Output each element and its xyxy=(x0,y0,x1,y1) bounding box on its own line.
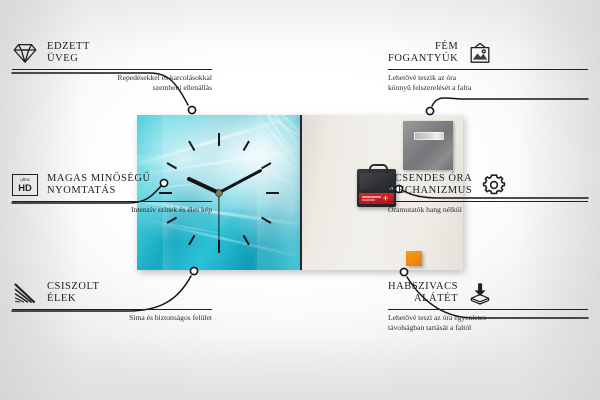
feature-header: HABSZIVACS ALÁTÉT xyxy=(388,280,588,306)
feature-description: Lehetővé teszik az óra könnyű felszerelé… xyxy=(388,73,588,92)
feature-foam-pad: HABSZIVACS ALÁTÉT Lehetővé teszi az óra … xyxy=(388,280,588,332)
feature-polished-edges: CSISZOLT ÉLEK Sima és biztonságos felüle… xyxy=(12,280,212,323)
feature-title: MAGAS MINŐSÉGŰ NYOMTATÁS xyxy=(47,173,151,198)
feature-title: HABSZIVACS ALÁTÉT xyxy=(388,281,458,306)
connector-dot-metal-handles xyxy=(426,107,433,114)
feature-header: FÉM FOGANTYÚK xyxy=(388,40,588,66)
hanger-slot xyxy=(414,132,444,140)
feature-title: CSISZOLT ÉLEK xyxy=(47,281,99,306)
polished-edges-icon xyxy=(12,280,38,306)
feature-divider xyxy=(388,69,588,70)
feature-description: Óramutatók hang nélkül xyxy=(388,205,588,215)
hour-tick-12 xyxy=(218,133,220,193)
feature-divider xyxy=(12,201,212,202)
feature-high-quality-print: ultra HD MAGAS MINŐSÉGŰ NYOMTATÁS Intenz… xyxy=(12,172,212,215)
feature-metal-handles: FÉM FOGANTYÚK Lehetővé teszik az óra kön… xyxy=(388,40,588,92)
feature-description: Sima és biztonságos felület xyxy=(12,313,212,323)
feature-silent-mechanism: CSENDES ÓRA MECHANIZMUS Óramutatók hang … xyxy=(388,172,588,215)
feature-title: CSENDES ÓRA MECHANIZMUS xyxy=(388,173,472,198)
hour-tick-3 xyxy=(219,192,279,194)
gear-icon xyxy=(481,172,507,198)
ultra-hd-badge-icon: ultra HD xyxy=(12,172,38,198)
connector-metal-handles xyxy=(432,98,588,106)
feature-title: FÉM FOGANTYÚK xyxy=(388,41,458,66)
picture-hanger-icon xyxy=(467,40,493,66)
connector-dot-tempered-glass xyxy=(188,106,195,113)
feature-header: EDZETT ÜVEG xyxy=(12,40,212,66)
feature-header: CSENDES ÓRA MECHANIZMUS xyxy=(388,172,588,198)
hand-center-cap xyxy=(216,190,222,196)
arrow-into-pad-icon xyxy=(467,280,493,306)
foam-spacer-pad xyxy=(406,251,422,266)
feature-tempered-glass: EDZETT ÜVEG Repedésekkel és karcolásokka… xyxy=(12,40,212,92)
feature-header: ultra HD MAGAS MINŐSÉGŰ NYOMTATÁS xyxy=(12,172,212,198)
feature-description: Lehetővé teszi az óra egyenletes távolsá… xyxy=(388,313,588,332)
feature-title: EDZETT ÜVEG xyxy=(47,41,90,66)
ultra-hd-badge-hd-text: HD xyxy=(18,183,32,192)
diamond-icon xyxy=(12,40,38,66)
feature-divider xyxy=(12,69,212,70)
feature-divider xyxy=(12,309,212,310)
infographic-canvas: + xyxy=(0,0,600,400)
second-hand xyxy=(218,193,219,249)
feature-divider xyxy=(388,309,588,310)
feature-divider xyxy=(388,201,588,202)
feature-header: CSISZOLT ÉLEK xyxy=(12,280,212,306)
feature-description: Repedésekkel és karcolásokkal szembeni e… xyxy=(12,73,212,92)
metal-hanger-plate xyxy=(403,121,453,170)
feature-description: Intenzív színek és éles kép xyxy=(12,205,212,215)
